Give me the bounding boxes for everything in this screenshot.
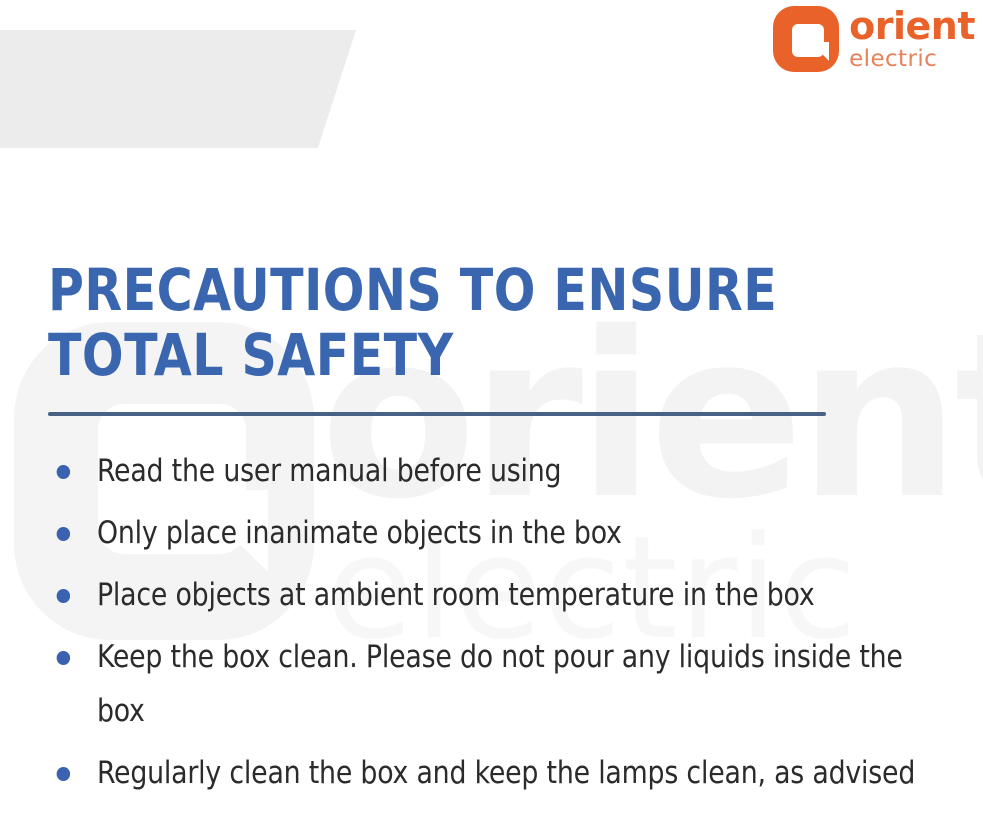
brand-name: orient [849, 7, 975, 45]
main-content: PRECAUTIONS TO ENSURE TOTAL SAFETY Read … [48, 258, 968, 808]
title-divider [48, 412, 826, 416]
list-item: Read the user manual before using [48, 444, 931, 498]
list-item-label: Regularly clean the box and keep the lam… [97, 746, 931, 800]
brand-mark-inner [792, 24, 824, 57]
list-item: Regularly clean the box and keep the lam… [48, 746, 931, 800]
list-item-label: Read the user manual before using [97, 444, 931, 498]
orient-logo-mark-icon [773, 6, 839, 72]
list-item: Place objects at ambient room temperatur… [48, 568, 931, 622]
brand-tagline: electric [849, 48, 975, 71]
bullet-dot-icon [57, 767, 70, 781]
bullet-dot-icon [57, 589, 70, 603]
corner-accent-shape [0, 30, 356, 148]
list-item: Keep the box clean. Please do not pour a… [48, 630, 931, 738]
page-title: PRECAUTIONS TO ENSURE TOTAL SAFETY [48, 258, 791, 388]
bullet-dot-icon [57, 465, 70, 479]
bullet-dot-icon [57, 651, 70, 665]
list-item-label: Only place inanimate objects in the box [97, 506, 931, 560]
precautions-list: Read the user manual before using Only p… [48, 444, 968, 800]
brand-wordmark: orient electric [849, 7, 975, 71]
list-item: Only place inanimate objects in the box [48, 506, 931, 560]
bullet-dot-icon [57, 527, 70, 541]
brand-logo: orient electric [773, 6, 975, 72]
list-item-label: Keep the box clean. Please do not pour a… [97, 630, 931, 738]
safety-precautions-page: orient electric orient electric PRECAUTI… [0, 0, 983, 826]
list-item-label: Place objects at ambient room temperatur… [97, 568, 931, 622]
